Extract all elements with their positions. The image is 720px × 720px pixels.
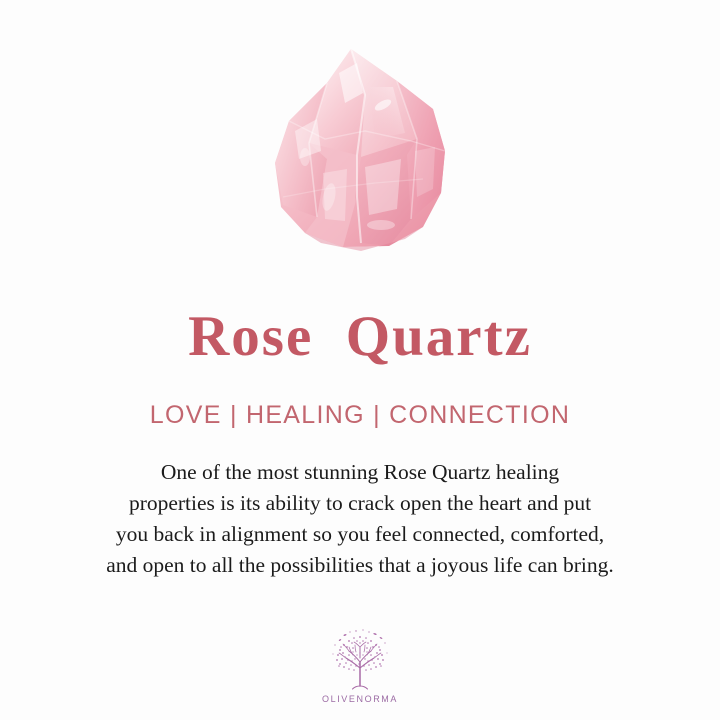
brand-logo: OLIVENORMA — [0, 626, 720, 704]
rose-quartz-crystal-image — [265, 47, 455, 252]
description-line: One of the most stunning Rose Quartz hea… — [30, 457, 690, 488]
hero-section — [0, 0, 720, 270]
page-title: Rose Quartz — [188, 308, 532, 365]
rose-quartz-crystal-icon — [265, 47, 455, 252]
rose-quartz-poster: Rose Quartz LOVE | HEALING | CONNECTION … — [0, 0, 720, 720]
description-line: properties is its ability to crack open … — [30, 488, 690, 519]
description-line: you back in alignment so you feel connec… — [30, 519, 690, 550]
description-line: and open to all the possibilities that a… — [30, 550, 690, 581]
brand-wordmark: OLIVENORMA — [322, 694, 398, 704]
description-text: One of the most stunning Rose Quartz hea… — [30, 457, 690, 581]
subtitle-keywords: LOVE | HEALING | CONNECTION — [150, 401, 570, 430]
tree-of-life-icon — [323, 626, 397, 692]
